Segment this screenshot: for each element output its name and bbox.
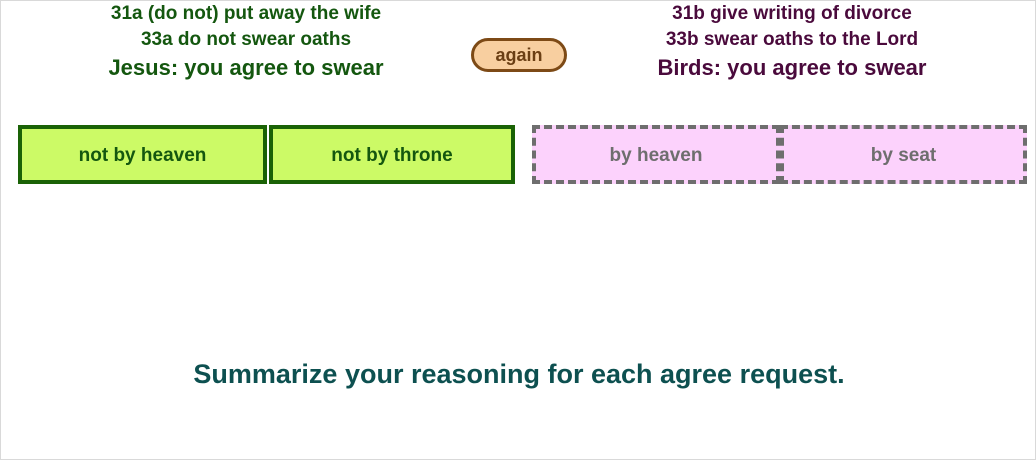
again-badge[interactable]: again — [471, 38, 567, 72]
green-box-not-by-throne[interactable]: not by throne — [269, 125, 515, 184]
footer-caption: Summarize your reasoning for each agree … — [1, 359, 1036, 390]
left-column: 31a (do not) put away the wife 33a do no… — [11, 1, 481, 83]
left-column-title: Jesus: you agree to swear — [11, 53, 481, 83]
left-line-31a: 31a (do not) put away the wife — [11, 1, 481, 27]
green-box-not-by-heaven[interactable]: not by heaven — [18, 125, 267, 184]
pink-box-by-seat[interactable]: by seat — [780, 125, 1027, 184]
pink-box-by-heaven[interactable]: by heaven — [532, 125, 780, 184]
right-column-title: Birds: you agree to swear — [557, 53, 1027, 83]
left-line-33a: 33a do not swear oaths — [11, 27, 481, 53]
right-column: 31b give writing of divorce 33b swear oa… — [557, 1, 1027, 83]
right-line-31b: 31b give writing of divorce — [557, 1, 1027, 27]
slide-canvas: 31a (do not) put away the wife 33a do no… — [0, 0, 1036, 460]
header-zone: 31a (do not) put away the wife 33a do no… — [1, 1, 1036, 119]
right-line-33b: 33b swear oaths to the Lord — [557, 27, 1027, 53]
answer-box-row: not by heaven not by throne by heaven by… — [1, 125, 1036, 185]
